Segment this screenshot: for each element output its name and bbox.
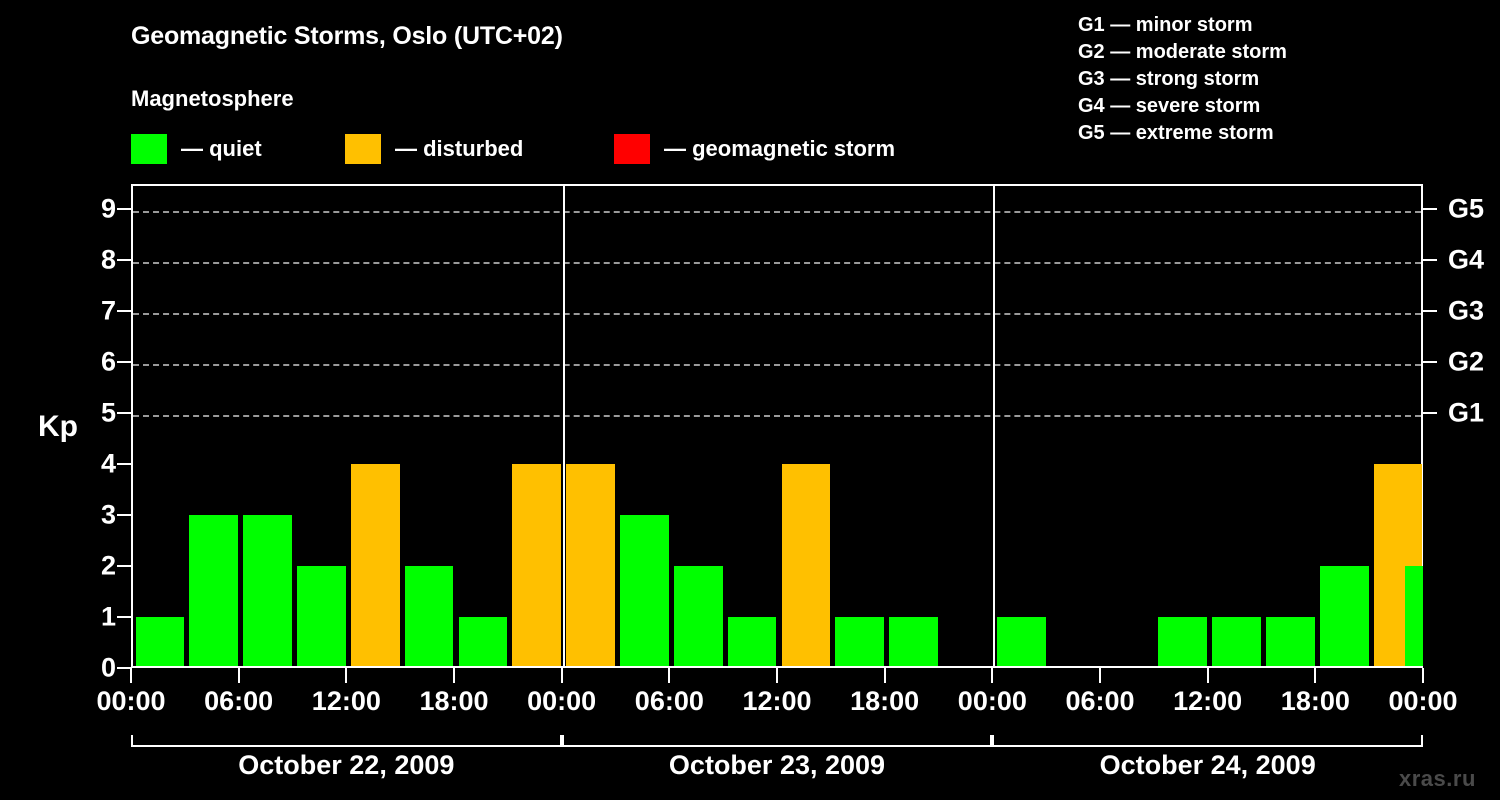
x-tick-label-7: 18:00 (850, 688, 919, 715)
bar[interactable] (512, 464, 561, 668)
bar[interactable] (782, 464, 831, 668)
quiet-legend[interactable]: — quiet (131, 133, 262, 165)
quiet-legend-label: — quiet (181, 138, 262, 160)
day-bracket-2 (992, 735, 1423, 747)
bar[interactable] (351, 464, 400, 668)
y-tick-label-3: 3 (76, 502, 116, 529)
bar[interactable] (189, 515, 238, 668)
g-tick-label-G2: G2 (1448, 349, 1484, 376)
g-tick-mark-G5 (1423, 208, 1437, 210)
x-tick-mark-11 (1314, 668, 1316, 683)
x-tick-mark-1 (238, 668, 240, 683)
disturbed-legend-swatch-icon (345, 134, 381, 164)
g-tick-label-G5: G5 (1448, 196, 1484, 223)
x-tick-mark-6 (776, 668, 778, 683)
y-tick-label-6: 6 (76, 349, 116, 376)
x-tick-mark-8 (991, 668, 993, 683)
day-separator-2 (993, 186, 995, 668)
day-label-1: October 23, 2009 (562, 752, 993, 779)
x-tick-mark-5 (668, 668, 670, 683)
x-tick-mark-0 (130, 668, 132, 683)
bar-partial[interactable] (1405, 566, 1423, 668)
bar[interactable] (1320, 566, 1369, 668)
page-title: Geomagnetic Storms, Oslo (UTC+02) (131, 22, 563, 51)
geomagnetic-storm-legend-label: — geomagnetic storm (664, 138, 895, 160)
y-tick-label-4: 4 (76, 451, 116, 478)
y-tick-label-8: 8 (76, 247, 116, 274)
disturbed-legend[interactable]: — disturbed (345, 133, 523, 165)
bar[interactable] (889, 617, 938, 668)
day-label-2: October 24, 2009 (992, 752, 1423, 779)
g-tick-label-G4: G4 (1448, 247, 1484, 274)
bar[interactable] (835, 617, 884, 668)
y-axis-title: Kp (38, 410, 78, 444)
g-scale-line-3: G3 — strong storm (1078, 66, 1287, 93)
x-tick-label-12: 00:00 (1388, 688, 1457, 715)
x-tick-label-4: 00:00 (527, 688, 596, 715)
x-tick-label-8: 00:00 (958, 688, 1027, 715)
chart-root: Geomagnetic Storms, Oslo (UTC+02) Magnet… (0, 0, 1500, 800)
x-tick-label-11: 18:00 (1281, 688, 1350, 715)
x-tick-mark-12 (1422, 668, 1424, 683)
g-tick-mark-G1 (1423, 412, 1437, 414)
x-tick-label-3: 18:00 (419, 688, 488, 715)
bar[interactable] (997, 617, 1046, 668)
disturbed-legend-label: — disturbed (395, 138, 523, 160)
bar[interactable] (136, 617, 185, 668)
bar[interactable] (1266, 617, 1315, 668)
y-tick-mark-3 (117, 514, 131, 516)
x-tick-mark-7 (884, 668, 886, 683)
g-scale-line-2: G2 — moderate storm (1078, 39, 1287, 66)
y-tick-label-2: 2 (76, 553, 116, 580)
x-tick-mark-10 (1207, 668, 1209, 683)
bar[interactable] (566, 464, 615, 668)
g-tick-mark-G3 (1423, 310, 1437, 312)
y-tick-label-9: 9 (76, 196, 116, 223)
geomagnetic-storm-legend[interactable]: — geomagnetic storm (614, 133, 895, 165)
bar[interactable] (674, 566, 723, 668)
x-tick-mark-2 (345, 668, 347, 683)
bar[interactable] (620, 515, 669, 668)
watermark: xras.ru (1399, 766, 1476, 792)
quiet-legend-swatch-icon (131, 134, 167, 164)
x-tick-label-0: 00:00 (96, 688, 165, 715)
x-tick-mark-3 (453, 668, 455, 683)
bar[interactable] (297, 566, 346, 668)
x-tick-mark-9 (1099, 668, 1101, 683)
x-tick-label-5: 06:00 (635, 688, 704, 715)
g-scale-line-4: G4 — severe storm (1078, 93, 1287, 120)
bar[interactable] (243, 515, 292, 668)
bar[interactable] (459, 617, 508, 668)
x-tick-label-1: 06:00 (204, 688, 273, 715)
bar[interactable] (728, 617, 777, 668)
y-tick-mark-4 (117, 463, 131, 465)
g-tick-mark-G4 (1423, 259, 1437, 261)
bar[interactable] (1158, 617, 1207, 668)
y-tick-label-1: 1 (76, 604, 116, 631)
g-tick-mark-G2 (1423, 361, 1437, 363)
g-tick-label-G1: G1 (1448, 400, 1484, 427)
bar[interactable] (405, 566, 454, 668)
x-tick-mark-4 (561, 668, 563, 683)
g-scale-legend: G1 — minor stormG2 — moderate stormG3 — … (1078, 12, 1287, 147)
bar-series (133, 186, 1421, 668)
y-tick-mark-1 (117, 616, 131, 618)
y-tick-mark-7 (117, 310, 131, 312)
day-bracket-1 (562, 735, 993, 747)
y-tick-label-0: 0 (76, 655, 116, 682)
plot-area (131, 184, 1423, 668)
x-tick-label-10: 12:00 (1173, 688, 1242, 715)
y-tick-mark-2 (117, 565, 131, 567)
geomagnetic-storm-legend-swatch-icon (614, 134, 650, 164)
y-tick-label-7: 7 (76, 298, 116, 325)
x-tick-label-9: 06:00 (1065, 688, 1134, 715)
y-tick-mark-0 (117, 667, 131, 669)
g-scale-line-5: G5 — extreme storm (1078, 120, 1287, 147)
day-bracket-0 (131, 735, 562, 747)
y-tick-label-5: 5 (76, 400, 116, 427)
y-tick-mark-8 (117, 259, 131, 261)
y-tick-mark-5 (117, 412, 131, 414)
day-label-0: October 22, 2009 (131, 752, 562, 779)
x-tick-label-6: 12:00 (742, 688, 811, 715)
day-separator-1 (563, 186, 565, 668)
bar[interactable] (1212, 617, 1261, 668)
g-scale-line-1: G1 — minor storm (1078, 12, 1287, 39)
y-tick-mark-9 (117, 208, 131, 210)
x-tick-label-2: 12:00 (312, 688, 381, 715)
g-tick-label-G3: G3 (1448, 298, 1484, 325)
y-tick-mark-6 (117, 361, 131, 363)
magnetosphere-label: Magnetosphere (131, 86, 294, 112)
